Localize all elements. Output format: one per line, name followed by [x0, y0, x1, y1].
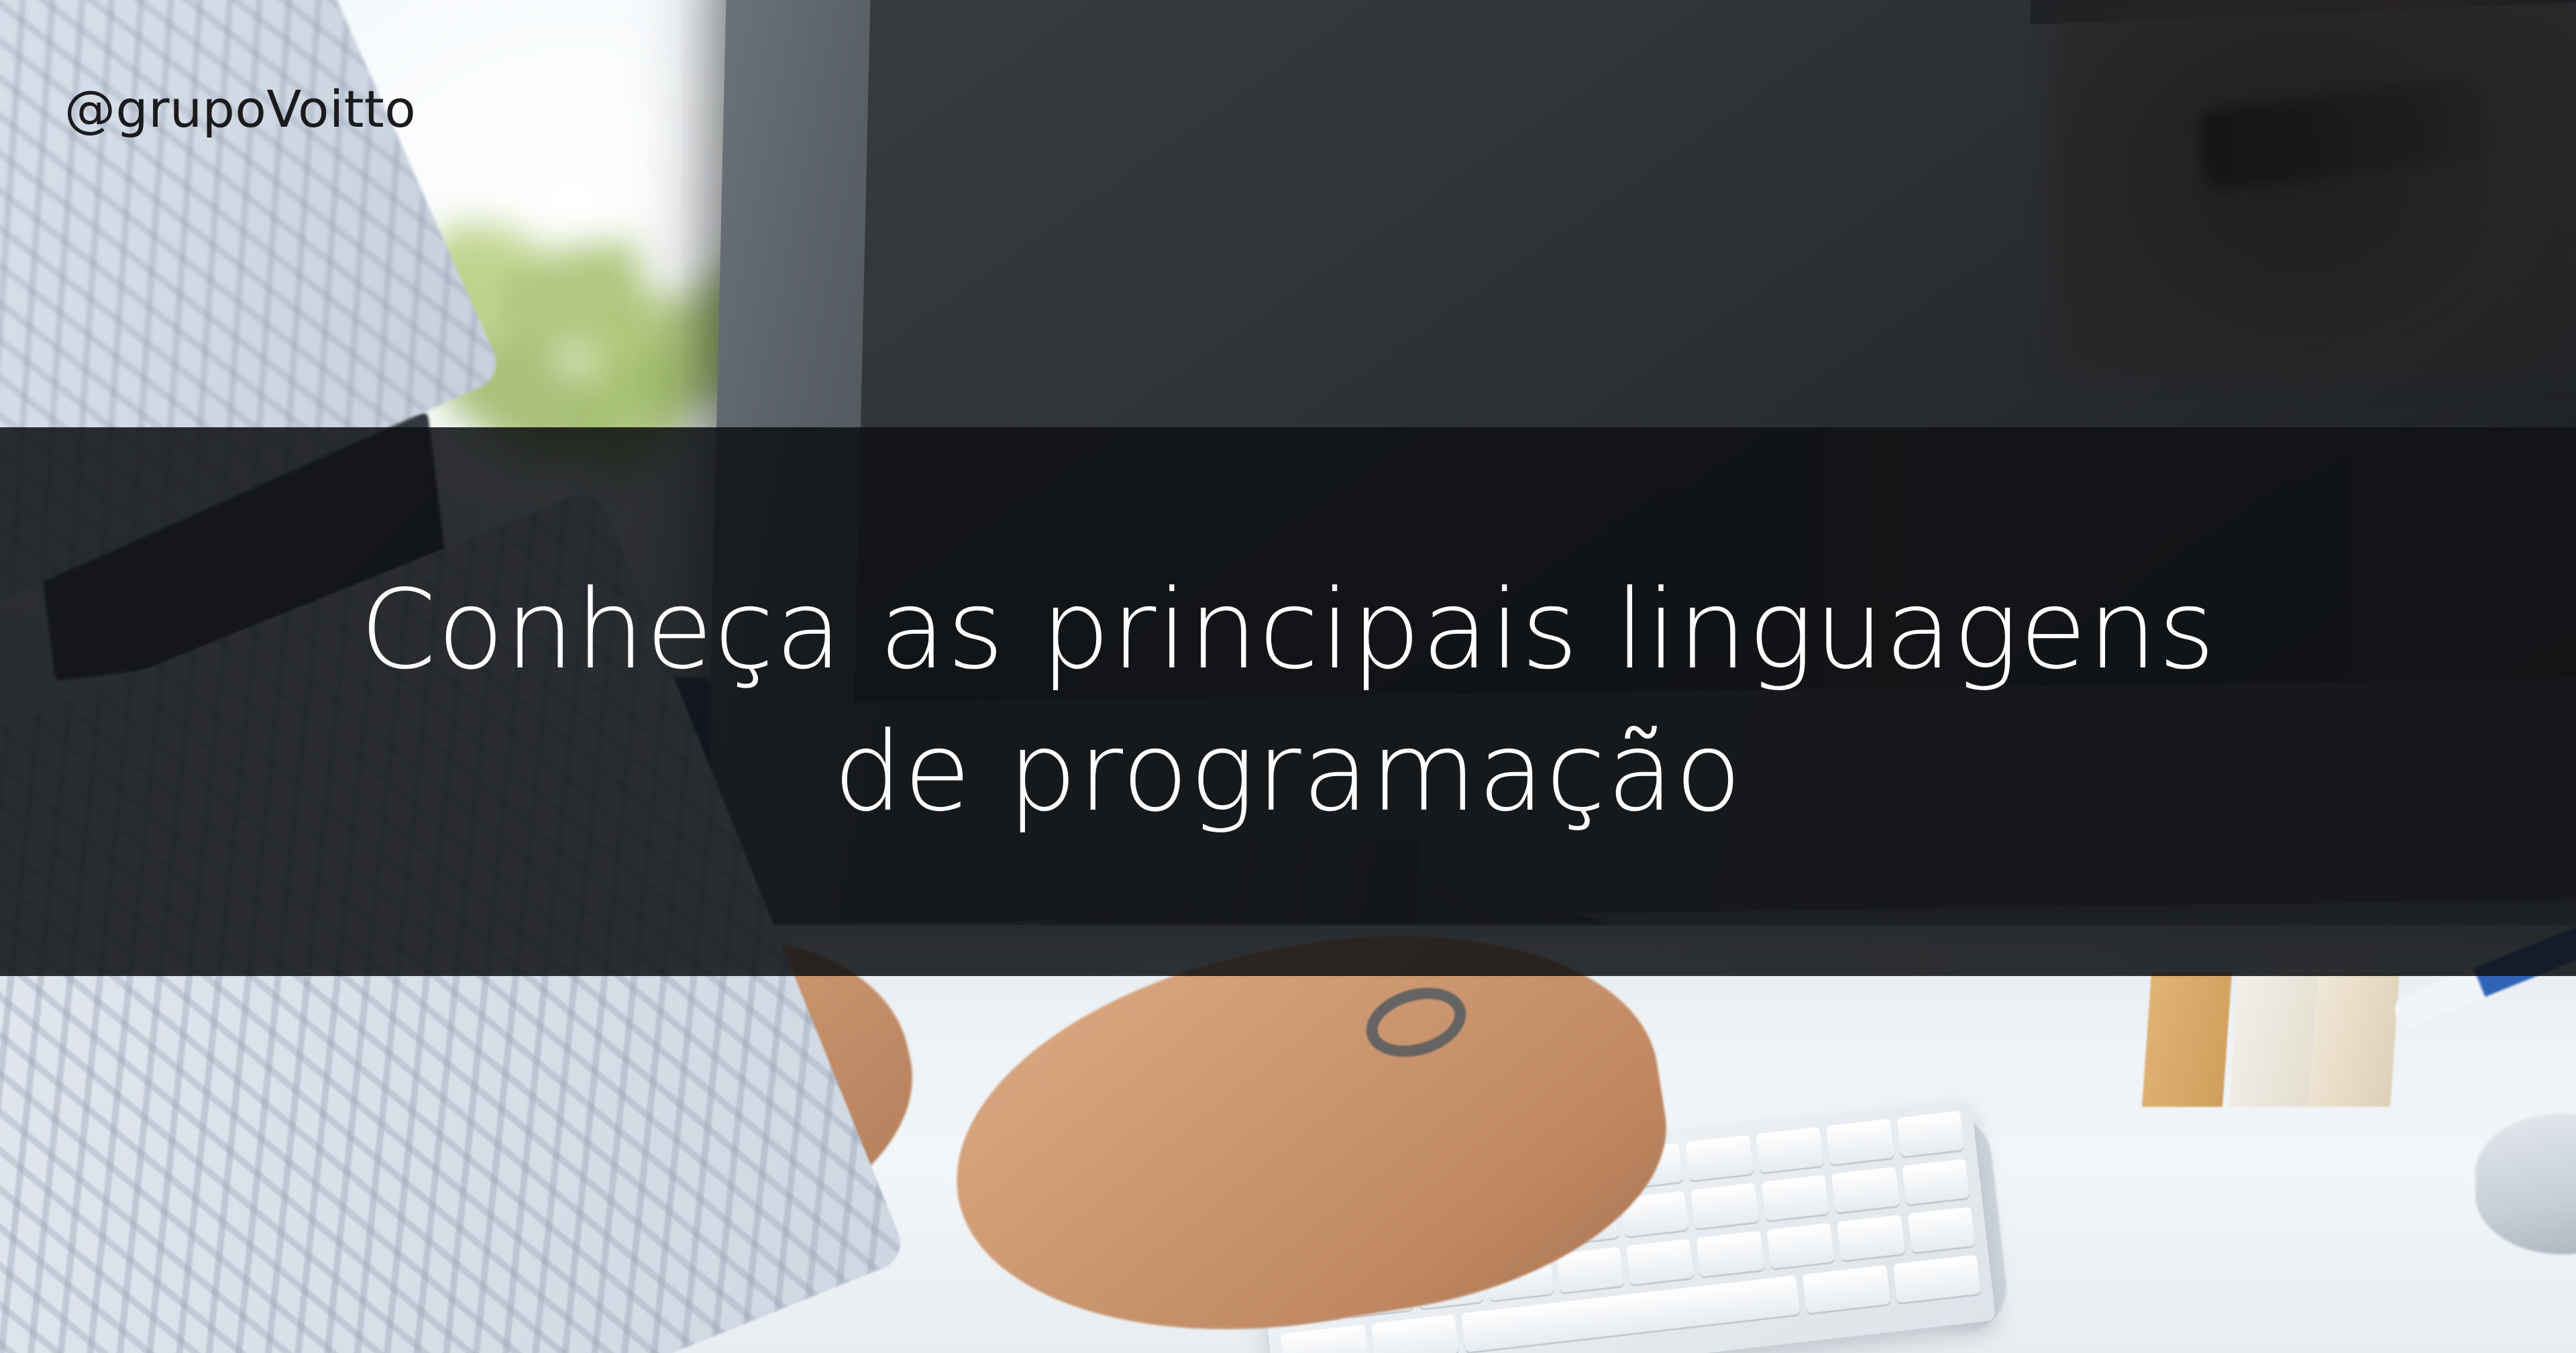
book	[2142, 973, 2232, 1107]
headline: Conheça as principais linguagens de prog…	[0, 427, 2576, 976]
book	[2229, 973, 2319, 1107]
social-banner: 1072if piece alt piece == piece alt.toLo…	[0, 0, 2576, 1353]
headline-line-2: de programação	[833, 702, 1743, 844]
person-silhouette	[2053, 0, 2576, 376]
code-editor-pane: 1072if piece alt piece == piece alt.toLo…	[869, 0, 1926, 62]
headline-line-1: Conheça as principais linguagens	[360, 559, 2216, 702]
book	[2310, 973, 2400, 1107]
brand-handle: @grupoVoitto	[64, 79, 416, 139]
